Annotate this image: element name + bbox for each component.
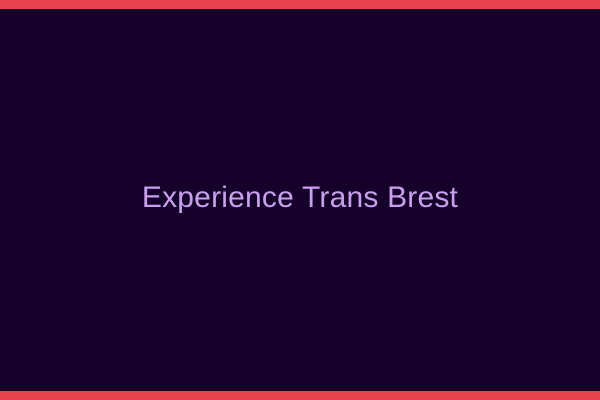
slide-canvas: Experience Trans Brest [0, 0, 600, 400]
page-title: Experience Trans Brest [142, 181, 458, 216]
content-stage: Experience Trans Brest [0, 9, 600, 391]
bottom-accent-band [0, 391, 600, 400]
top-accent-band [0, 0, 600, 9]
